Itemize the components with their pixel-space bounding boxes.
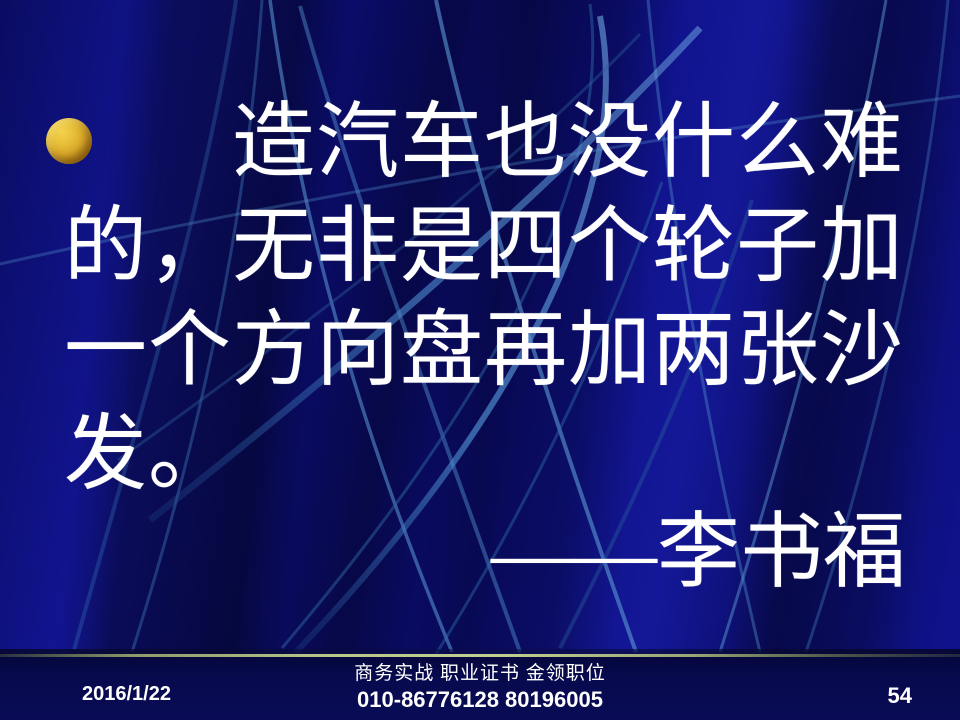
footer-center-text: 商务实战 职业证书 金领职位 010-86776128 80196005 <box>0 655 960 713</box>
quote-line-3: 一个方向盘再加两张沙 <box>64 298 914 402</box>
quote-line-1: 造汽车也没什么难 <box>64 90 914 194</box>
quote-text-block: 造汽车也没什么难 的，无非是四个轮子加 一个方向盘再加两张沙 发。 <box>64 90 914 506</box>
quote-line-2: 的，无非是四个轮子加 <box>64 194 914 298</box>
footer-phone-line: 010-86776128 80196005 <box>0 687 960 713</box>
slide-canvas: 造汽车也没什么难 的，无非是四个轮子加 一个方向盘再加两张沙 发。 ——李书福 … <box>0 0 960 720</box>
footer-page-number: 54 <box>888 683 912 709</box>
footer-org-line: 商务实战 职业证书 金领职位 <box>0 658 960 685</box>
quote-attribution: ——李书福 <box>491 500 906 604</box>
quote-line-4: 发。 <box>64 402 914 506</box>
